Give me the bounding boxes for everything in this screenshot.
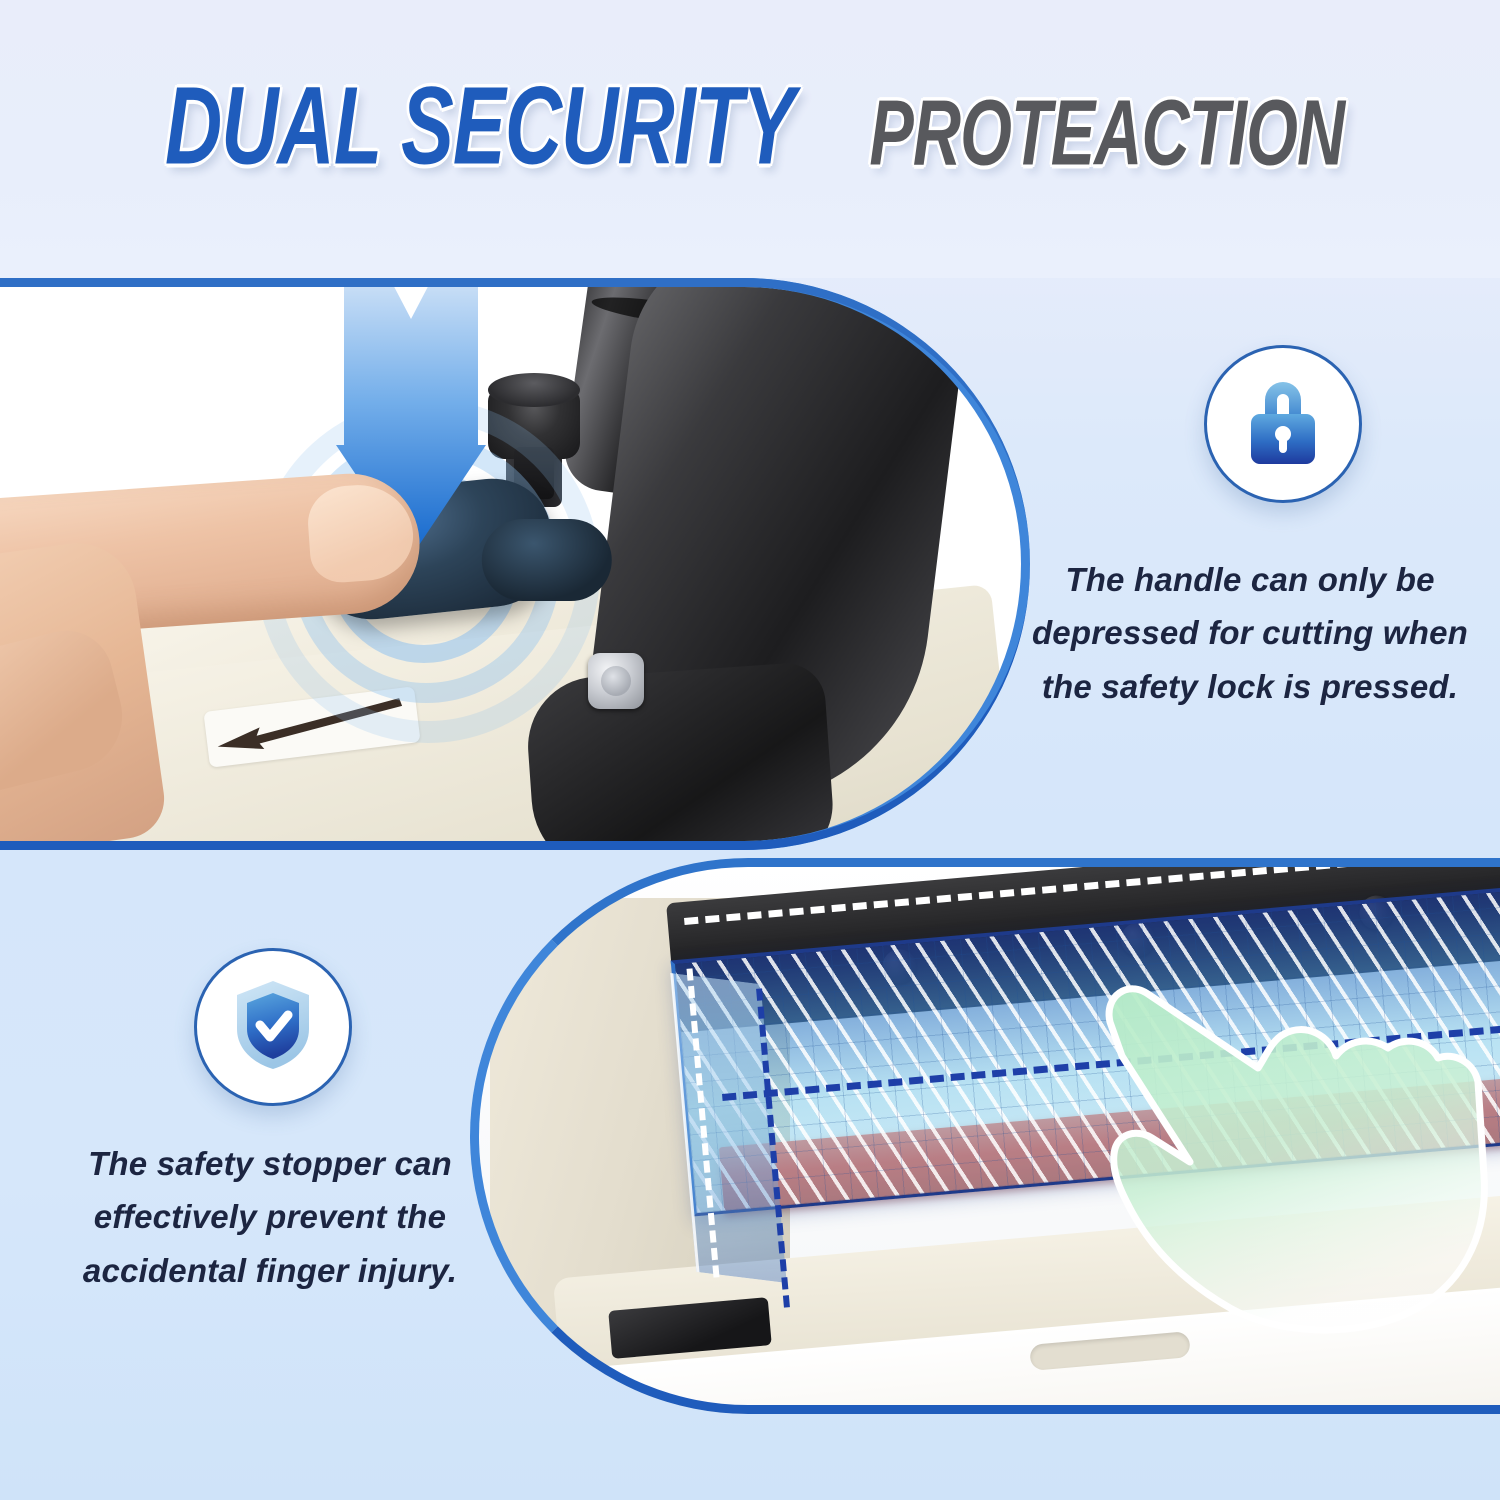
product-feature-graphic: DUAL SECURITYPROTEACTION <box>0 0 1500 1500</box>
hex-bolt <box>588 653 644 709</box>
page-title: DUAL SECURITYPROTEACTION <box>0 88 1500 190</box>
handle-arm-foot <box>523 661 836 850</box>
lock-caption: The handle can only be depressed for cut… <box>1015 553 1485 713</box>
lock-icon <box>1239 374 1327 475</box>
header-banner: DUAL SECURITYPROTEACTION <box>0 0 1500 278</box>
title-primary: DUAL SECURITY <box>165 61 794 190</box>
top-photo-panel <box>0 278 1030 850</box>
fingernail <box>306 481 416 584</box>
shield-badge <box>194 948 352 1106</box>
lock-badge <box>1204 345 1362 503</box>
shield-caption: The safety stopper can effectively preve… <box>40 1137 500 1297</box>
bottom-photo-panel <box>470 858 1500 1414</box>
ghost-hand-silhouette <box>1070 936 1500 1356</box>
shield-check-icon <box>229 977 317 1078</box>
title-secondary: PROTEACTION <box>869 79 1344 186</box>
